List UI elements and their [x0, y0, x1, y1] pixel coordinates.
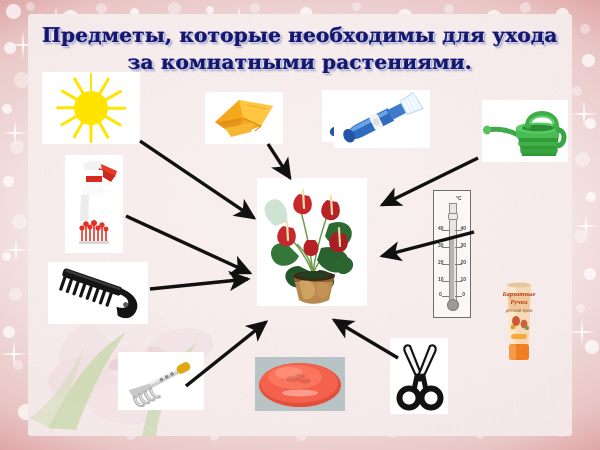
- arrow-comb-to-plant: [150, 279, 248, 289]
- arrow-scissors-to-plant: [334, 320, 398, 358]
- arrow-sprayer-to-plant: [126, 216, 250, 273]
- arrow-cloth-to-plant: [268, 144, 290, 178]
- arrow-rake-to-plant: [186, 322, 266, 386]
- page-title: Предметы, которые необходимы для ухода з…: [34, 22, 566, 76]
- slide-root: Предметы, которые необходимы для ухода з…: [0, 0, 600, 450]
- arrow-sun-to-plant: [140, 141, 254, 218]
- arrow-can-to-plant: [382, 232, 474, 256]
- arrow-brush-to-plant: [382, 158, 478, 205]
